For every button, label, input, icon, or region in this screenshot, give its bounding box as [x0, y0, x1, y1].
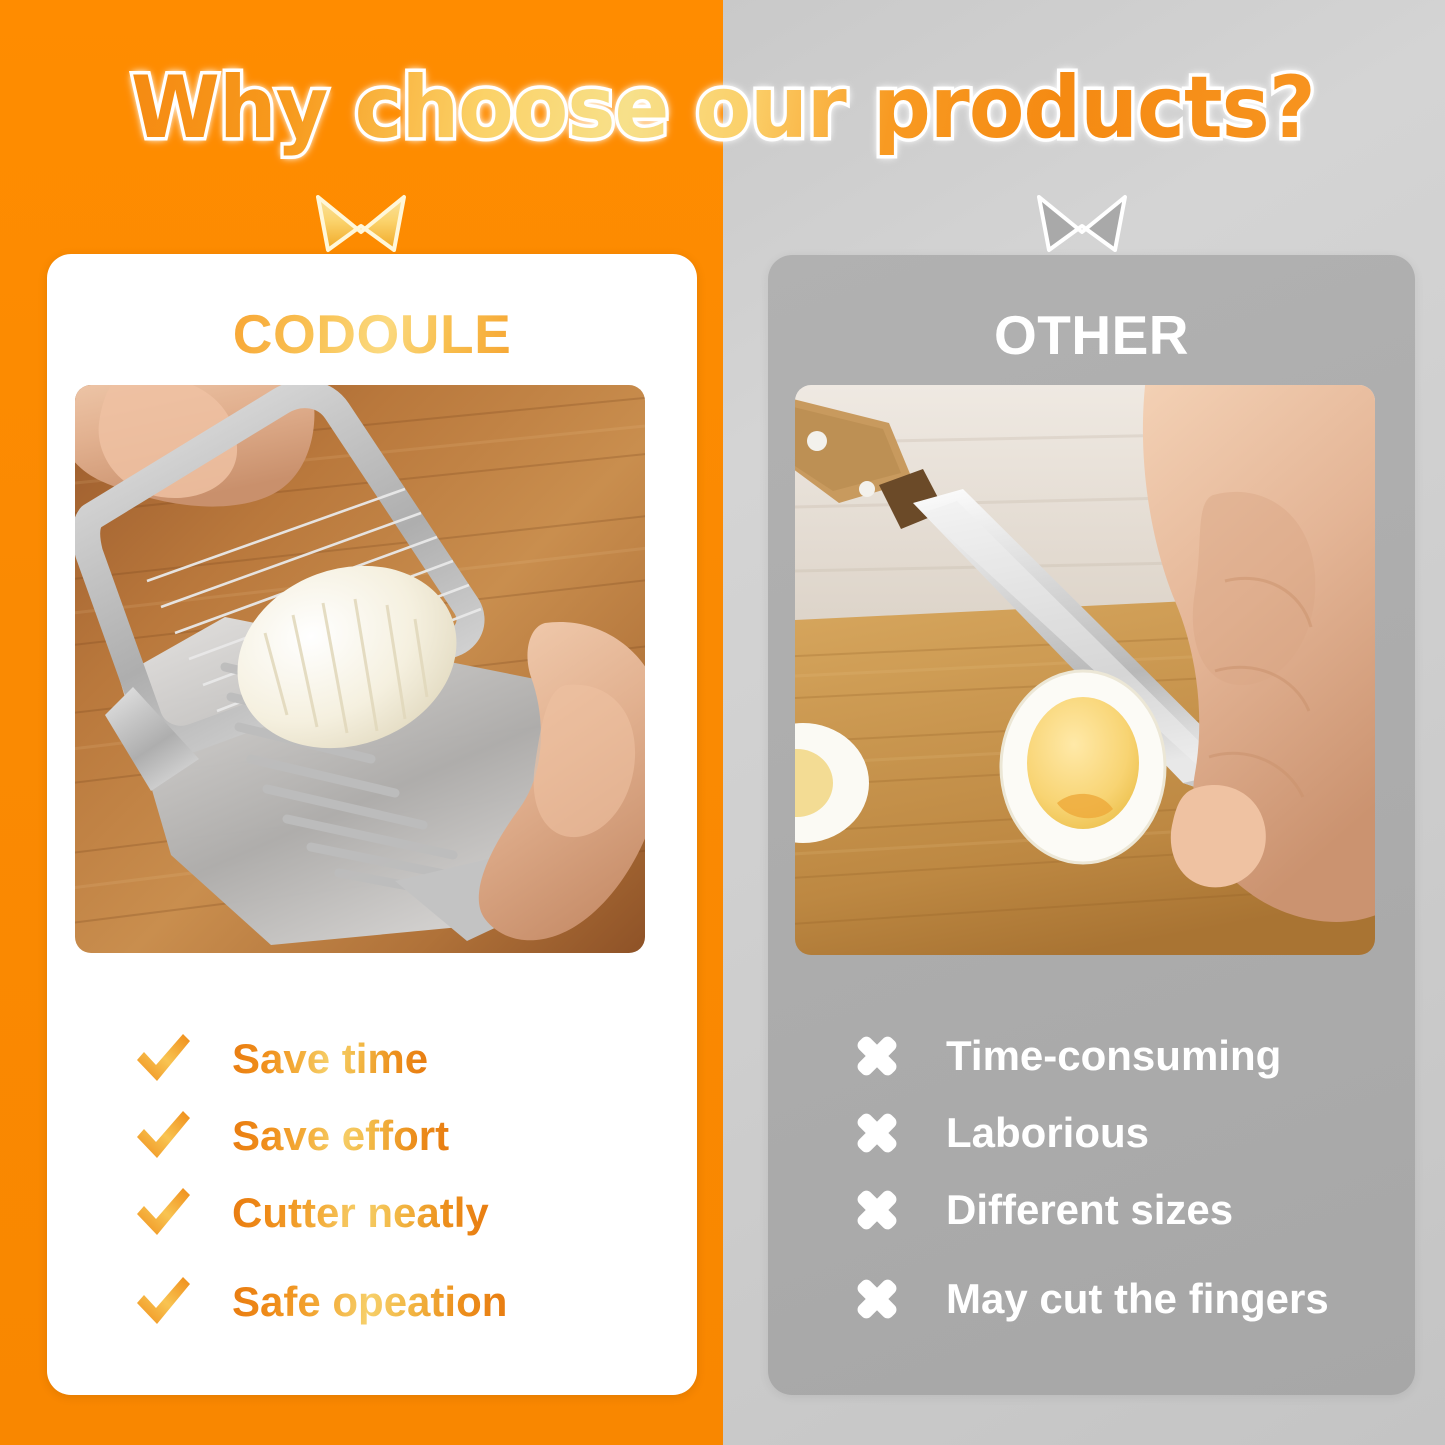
page-title: Why choose our products? — [130, 58, 1314, 158]
drawback-list: Time-consuming Laborious — [768, 1017, 1415, 1337]
list-item: May cut the fingers — [768, 1260, 1415, 1337]
list-item: Save time — [47, 1020, 697, 1097]
list-item-label: Safe opeation — [232, 1278, 507, 1326]
cross-icon — [846, 1105, 908, 1161]
knife-egg-photo — [795, 385, 1375, 955]
list-item-label: Time-consuming — [946, 1032, 1281, 1080]
list-item-label: Save time — [232, 1035, 428, 1083]
list-item-label: Different sizes — [946, 1186, 1233, 1234]
other-card: OTHER — [768, 255, 1415, 1395]
chevron-down-icon — [1036, 192, 1128, 254]
list-item: Laborious — [768, 1094, 1415, 1171]
list-item-label: Save effort — [232, 1112, 449, 1160]
comparison-infographic: Why choose our products? Why choose our … — [0, 0, 1445, 1445]
codoule-card: CODOULE — [47, 254, 697, 1395]
check-icon — [132, 1108, 194, 1164]
list-item-label: Laborious — [946, 1109, 1149, 1157]
list-item: Time-consuming — [768, 1017, 1415, 1094]
check-icon — [132, 1274, 194, 1330]
check-icon — [132, 1185, 194, 1241]
list-item: Cutter neatly — [47, 1174, 697, 1251]
check-icon — [132, 1031, 194, 1087]
other-heading: OTHER — [768, 303, 1415, 367]
codoule-heading: CODOULE — [47, 302, 697, 366]
list-item-label: May cut the fingers — [946, 1275, 1329, 1323]
benefit-list: Save time Save effort Cutter neatly — [47, 1020, 697, 1340]
cross-icon — [846, 1028, 908, 1084]
list-item: Safe opeation — [47, 1263, 697, 1340]
cross-icon — [846, 1271, 908, 1327]
list-item: Different sizes — [768, 1171, 1415, 1248]
list-item-label: Cutter neatly — [232, 1189, 489, 1237]
cross-icon — [846, 1182, 908, 1238]
list-item: Save effort — [47, 1097, 697, 1174]
chevron-down-icon — [315, 192, 407, 254]
page-title-wrap: Why choose our products? — [0, 58, 1445, 158]
egg-slicer-photo — [75, 385, 645, 953]
